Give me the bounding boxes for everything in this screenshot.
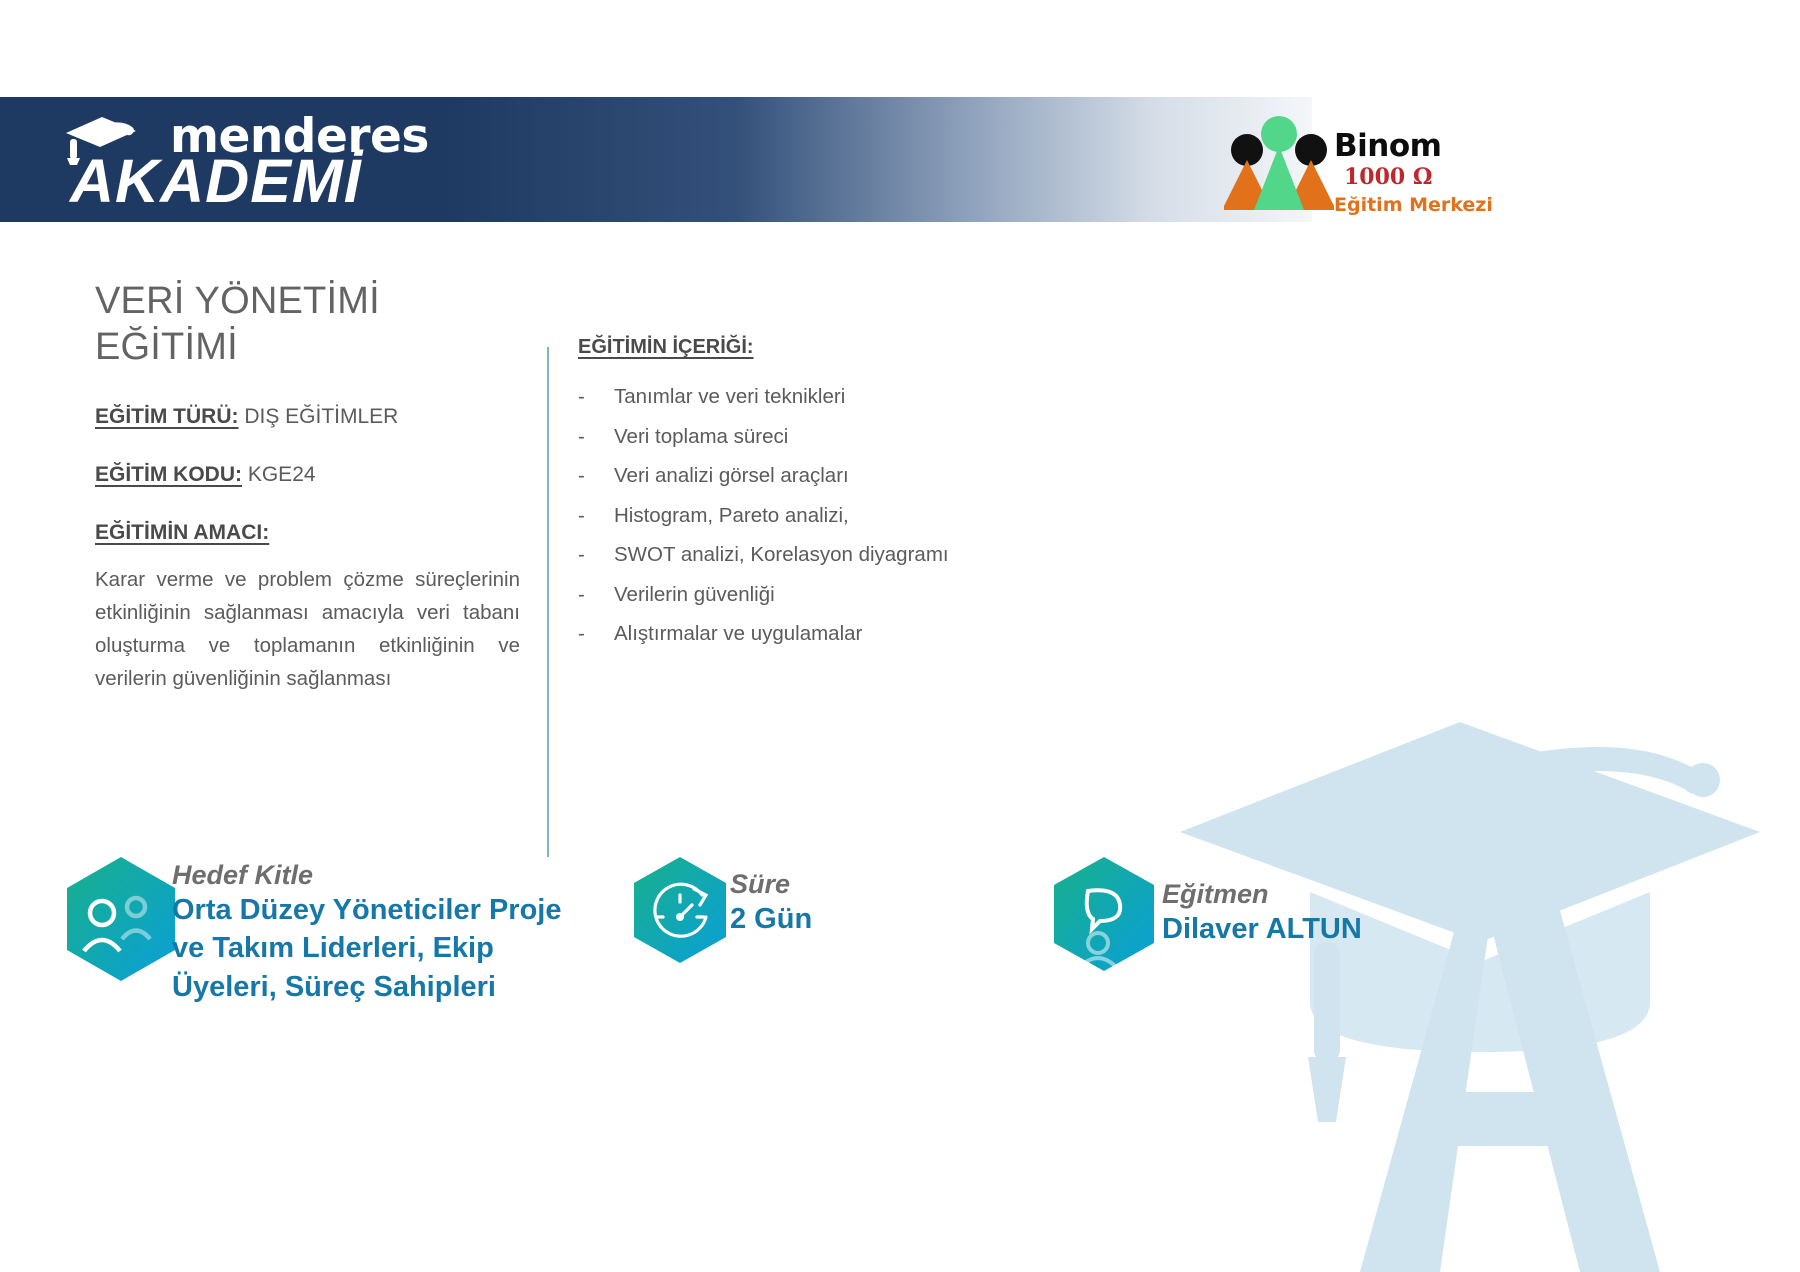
page-title-line1: VERİ YÖNETİMİ (95, 278, 530, 324)
academy-logo: menderes AKADEMİ (62, 107, 482, 217)
bullet-marker: - (578, 545, 614, 566)
training-code-label: EĞİTİM KODU: (95, 463, 242, 486)
list-item: - Histogram, Pareto analizi, (578, 506, 1138, 527)
training-type-value: DIŞ EĞİTİMLER (244, 405, 398, 428)
partner-logo-name: Binom (1334, 128, 1441, 164)
audience-badge-value: Orta Düzey Yöneticiler Proje ve Takım Li… (172, 891, 582, 1006)
list-item-label: Veri toplama süreci (614, 427, 1138, 448)
list-item-label: Verilerin güvenliği (614, 585, 1138, 606)
audience-badge: Hedef Kitle Orta Düzey Yöneticiler Proje… (62, 855, 582, 1035)
speech-bubble-icon (1050, 855, 1158, 973)
bullet-marker: - (578, 585, 614, 606)
bullet-marker: - (578, 387, 614, 408)
trainer-badge: Eğitmen Dilaver ALTUN (1050, 855, 1450, 985)
list-item: - Alıştırmalar ve uygulamalar (578, 624, 1138, 645)
program-info-column: VERİ YÖNETİMİ EĞİTİMİ EĞİTİM TÜRÜ: DIŞ E… (95, 278, 530, 696)
page-title-line2: EĞİTİMİ (95, 324, 530, 370)
header-banner: menderes AKADEMİ (0, 97, 1312, 222)
academy-logo-akademi: AKADEMİ (70, 151, 362, 212)
purpose-label: EĞİTİMİN AMACI: (95, 521, 530, 545)
bullet-marker: - (578, 466, 614, 487)
training-code-row: EĞİTİM KODU: KGE24 (95, 463, 530, 487)
list-item-label: Histogram, Pareto analizi, (614, 506, 1138, 527)
duration-badge-title: Süre (730, 869, 812, 900)
training-type-row: EĞİTİM TÜRÜ: DIŞ EĞİTİMLER (95, 405, 530, 429)
list-item: - Tanımlar ve veri teknikleri (578, 387, 1138, 408)
list-item-label: Veri analizi görsel araçları (614, 466, 1138, 487)
list-item-label: SWOT analizi, Korelasyon diyagramı (614, 545, 1138, 566)
trainer-badge-title: Eğitmen (1162, 879, 1362, 910)
people-group-icon (62, 855, 180, 983)
partner-logo-subtitle: Eğitim Merkezi (1334, 194, 1524, 216)
list-item: - Verilerin güvenliği (578, 585, 1138, 606)
duration-badge-value: 2 Gün (730, 900, 812, 938)
clock-icon (630, 855, 730, 965)
content-list: - Tanımlar ve veri teknikleri - Veri top… (578, 387, 1138, 645)
trainer-badge-value: Dilaver ALTUN (1162, 910, 1362, 948)
training-code-value: KGE24 (248, 463, 316, 486)
three-people-icon (1224, 114, 1334, 212)
partner-logo: Binom1000 Ω Eğitim Merkezi (1224, 106, 1524, 214)
list-item: - SWOT analizi, Korelasyon diyagramı (578, 545, 1138, 566)
list-item-label: Tanımlar ve veri teknikleri (614, 387, 1138, 408)
program-content-column: EĞİTİMİN İÇERİĞİ: - Tanımlar ve veri tek… (578, 336, 1138, 664)
bullet-marker: - (578, 624, 614, 645)
training-type-label: EĞİTİM TÜRÜ: (95, 405, 238, 428)
bullet-marker: - (578, 506, 614, 527)
list-item-label: Alıştırmalar ve uygulamalar (614, 624, 1138, 645)
list-item: - Veri analizi görsel araçları (578, 466, 1138, 487)
bullet-marker: - (578, 427, 614, 448)
page-title: VERİ YÖNETİMİ EĞİTİMİ (95, 278, 530, 371)
duration-badge: Süre 2 Gün (630, 855, 910, 985)
audience-badge-title: Hedef Kitle (172, 860, 592, 891)
purpose-text: Karar verme ve problem çözme süreçlerini… (95, 563, 520, 696)
column-divider (547, 347, 549, 857)
content-label: EĞİTİMİN İÇERİĞİ: (578, 336, 1138, 359)
list-item: - Veri toplama süreci (578, 427, 1138, 448)
partner-logo-ohm: 1000 Ω (1344, 164, 1432, 190)
